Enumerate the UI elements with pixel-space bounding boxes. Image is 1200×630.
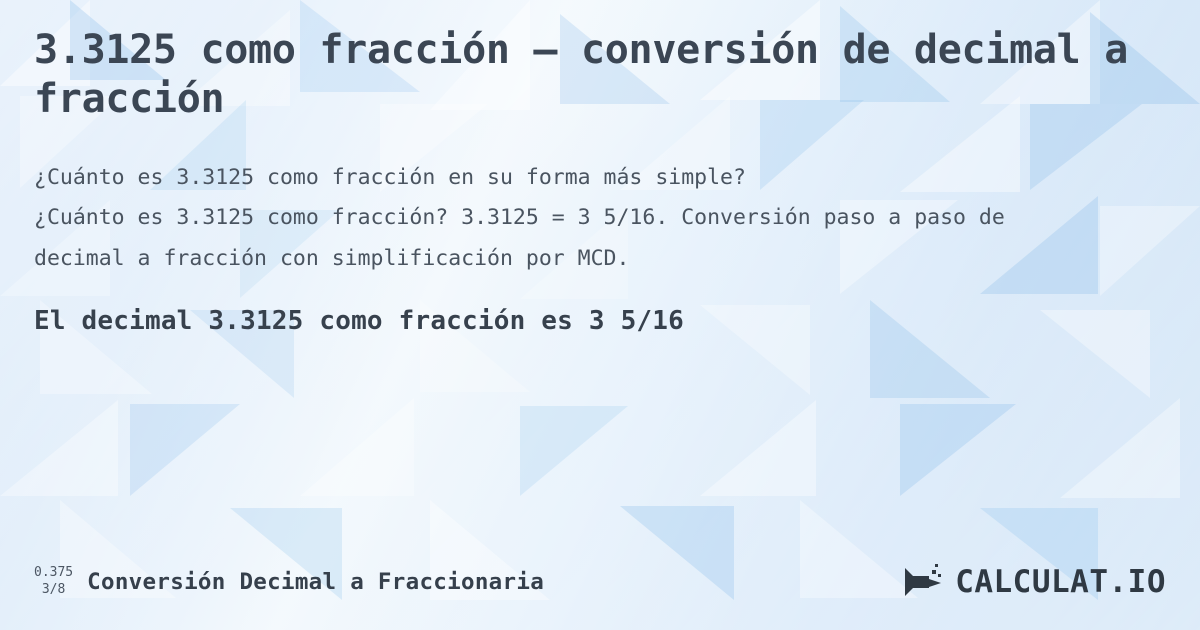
page-canvas: 3.3125 como fracción – conversión de dec… [0,0,1200,630]
page-title: 3.3125 como fracción – conversión de dec… [34,26,1134,124]
brand-logo[interactable]: CALCULAT.IO [899,562,1166,602]
description-line-1: ¿Cuánto es 3.3125 como fracción en su fo… [34,165,746,190]
footer: 0.375 3/8 Conversión Decimal a Fracciona… [0,534,1200,630]
fraction-icon: 0.375 3/8 [34,565,73,598]
page-description: ¿Cuánto es 3.3125 como fracción en su fo… [34,158,1094,281]
fraction-icon-numerator: 0.375 [34,565,73,582]
answer-statement: El decimal 3.3125 como fracción es 3 5/1… [34,306,1166,336]
content-area: 3.3125 como fracción – conversión de dec… [0,0,1200,336]
footer-left-group: 0.375 3/8 Conversión Decimal a Fracciona… [34,565,544,598]
footer-section-title: Conversión Decimal a Fraccionaria [87,569,544,595]
description-line-2: ¿Cuánto es 3.3125 como fracción? 3.3125 … [34,198,1094,280]
fraction-icon-denominator: 3/8 [42,582,65,599]
brand-name: CALCULAT.IO [955,564,1166,600]
calculator-bird-icon [899,562,945,602]
